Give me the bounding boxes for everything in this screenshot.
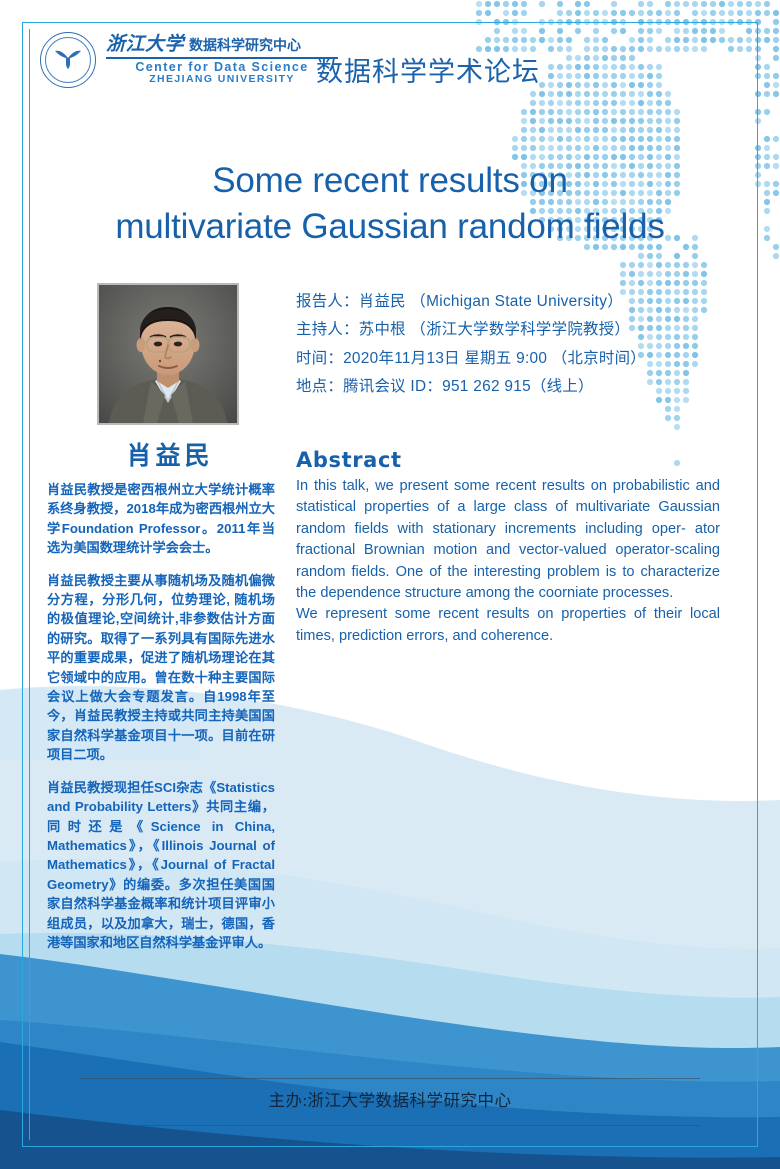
- logo-english-university: ZHEJIANG UNIVERSITY: [106, 74, 338, 85]
- zhejiang-university-seal-icon: [40, 32, 96, 88]
- detail-row-time: 时间：2020年11月13日 星期五 9:00 （北京时间）: [296, 345, 726, 373]
- footer-organizer: 主办:浙江大学数据科学研究中心: [0, 1087, 780, 1111]
- bio-paragraph: 肖益民教授主要从事随机场及随机偏微分方程，分形几何，位势理论, 随机场的极值理论…: [47, 571, 275, 765]
- forum-title: 数据科学学术论坛: [316, 50, 540, 89]
- portrait-image: [99, 285, 237, 423]
- logo-english-center: Center for Data Science: [106, 61, 338, 74]
- page-title: Some recent results on multivariate Gaus…: [60, 158, 720, 250]
- footer-divider-top: [80, 1078, 700, 1079]
- speaker-name: 肖益民: [60, 436, 280, 472]
- abstract-body: In this talk, we present some recent res…: [296, 476, 720, 647]
- page-title-line-2: multivariate Gaussian random fields: [60, 204, 720, 250]
- detail-row-host: 主持人：苏中根 （浙江大学数学科学学院教授）: [296, 316, 726, 344]
- seal-bird-glyph: [53, 47, 83, 71]
- footer-divider-bottom: [80, 1125, 700, 1126]
- detail-row-location: 地点：腾讯会议 ID：951 262 915（线上）: [296, 373, 726, 401]
- abstract-heading: Abstract: [296, 448, 402, 472]
- detail-row-speaker: 报告人：肖益民 （Michigan State University）: [296, 288, 726, 316]
- bio-paragraph: 肖益民教授现担任SCI杂志《Statistics and Probability…: [47, 778, 275, 953]
- talk-details-list: 报告人：肖益民 （Michigan State University） 主持人：…: [296, 288, 726, 402]
- logo-text-block: 浙江大学 数据科学研究中心 Center for Data Science ZH…: [106, 35, 338, 84]
- page-title-line-1: Some recent results on: [60, 158, 720, 204]
- poster-root: 浙江大学 数据科学研究中心 Center for Data Science ZH…: [0, 0, 780, 1169]
- abstract-paragraph-2: We represent some recent results on prop…: [296, 604, 720, 647]
- speaker-biography: 肖益民教授是密西根州立大学统计概率系终身教授，2018年成为密西根州立大学Fou…: [47, 480, 275, 965]
- logo-center-name: 数据科学研究中心: [189, 38, 301, 52]
- bio-paragraph: 肖益民教授是密西根州立大学统计概率系终身教授，2018年成为密西根州立大学Fou…: [47, 480, 275, 558]
- logo-university-name: 浙江大学: [106, 35, 184, 54]
- header-logo-block: 浙江大学 数据科学研究中心 Center for Data Science ZH…: [40, 32, 338, 88]
- abstract-paragraph-1: In this talk, we present some recent res…: [296, 476, 720, 604]
- logo-divider: [106, 57, 338, 58]
- speaker-portrait: [97, 283, 239, 425]
